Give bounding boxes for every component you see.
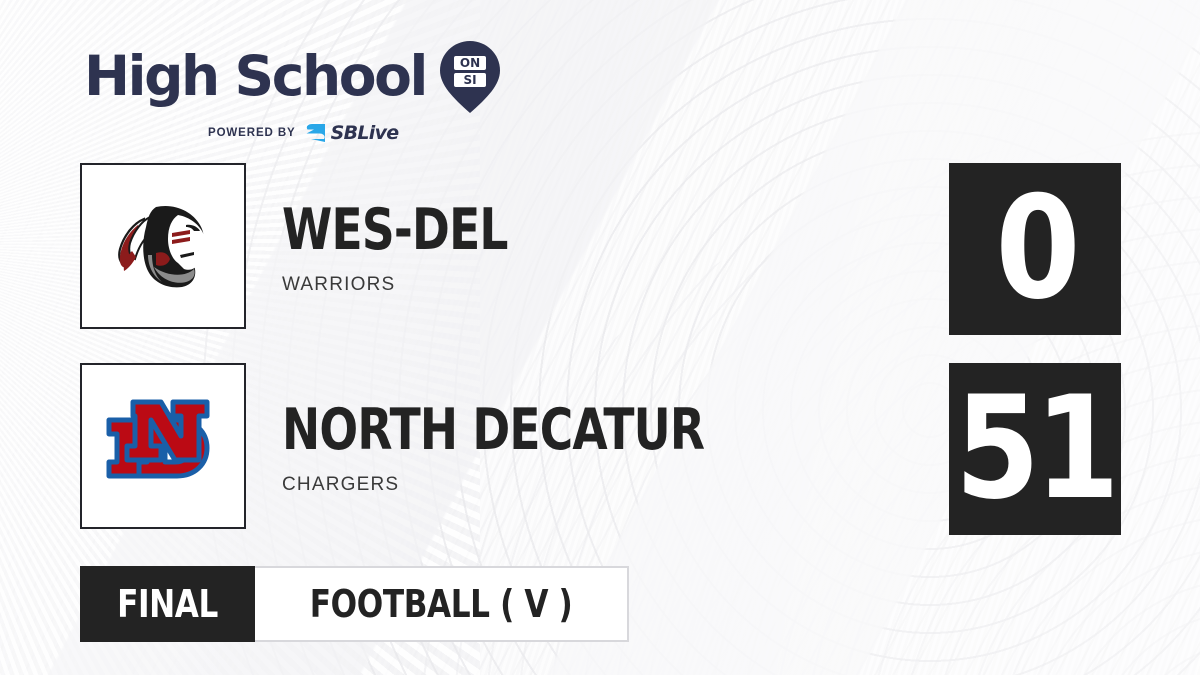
location-pin-on-si-icon: ON SI bbox=[439, 40, 501, 114]
team-info: NORTH DECATUR CHARGERS bbox=[282, 363, 810, 496]
sblive-bolt-icon bbox=[305, 123, 327, 143]
team-name: NORTH DECATUR bbox=[282, 403, 704, 457]
team-mascot: CHARGERS bbox=[282, 474, 810, 496]
team-name: WES-DEL bbox=[282, 203, 508, 257]
team-score: 51 bbox=[955, 378, 1115, 520]
team-score-box: 51 bbox=[949, 363, 1121, 535]
sblive-logo: SBLive bbox=[305, 123, 399, 143]
sport-label-box: FOOTBALL ( V ) bbox=[255, 566, 629, 642]
powered-by-label: POWERED BY bbox=[208, 127, 296, 139]
team-mascot: WARRIORS bbox=[282, 274, 564, 296]
status-badge-label: FINAL bbox=[117, 582, 218, 626]
team-row: WES-DEL WARRIORS bbox=[80, 163, 564, 329]
status-badge: FINAL bbox=[80, 566, 255, 642]
team-row: NORTH DECATUR CHARGERS bbox=[80, 363, 810, 529]
scoreboard-graphic: High School ON SI POWERED BY bbox=[0, 0, 1200, 675]
brand-wordmark: High School bbox=[84, 49, 426, 104]
brand-lockup: High School ON SI bbox=[84, 38, 501, 114]
powered-by-lockup: POWERED BY SBLive bbox=[208, 123, 398, 143]
sblive-wordmark: SBLive bbox=[331, 124, 399, 143]
sport-label: FOOTBALL ( V ) bbox=[310, 582, 573, 626]
team-score-box: 0 bbox=[949, 163, 1121, 335]
wes-del-warrior-head-logo-icon bbox=[80, 163, 246, 329]
team-score: 0 bbox=[995, 178, 1075, 320]
brand-header: High School ON SI POWERED BY bbox=[84, 38, 501, 143]
svg-text:ON: ON bbox=[460, 56, 480, 70]
svg-text:SI: SI bbox=[463, 73, 476, 87]
team-info: WES-DEL WARRIORS bbox=[282, 163, 564, 296]
game-status-bar: FINAL FOOTBALL ( V ) bbox=[80, 566, 629, 642]
north-decatur-nd-monogram-logo-icon bbox=[80, 363, 246, 529]
